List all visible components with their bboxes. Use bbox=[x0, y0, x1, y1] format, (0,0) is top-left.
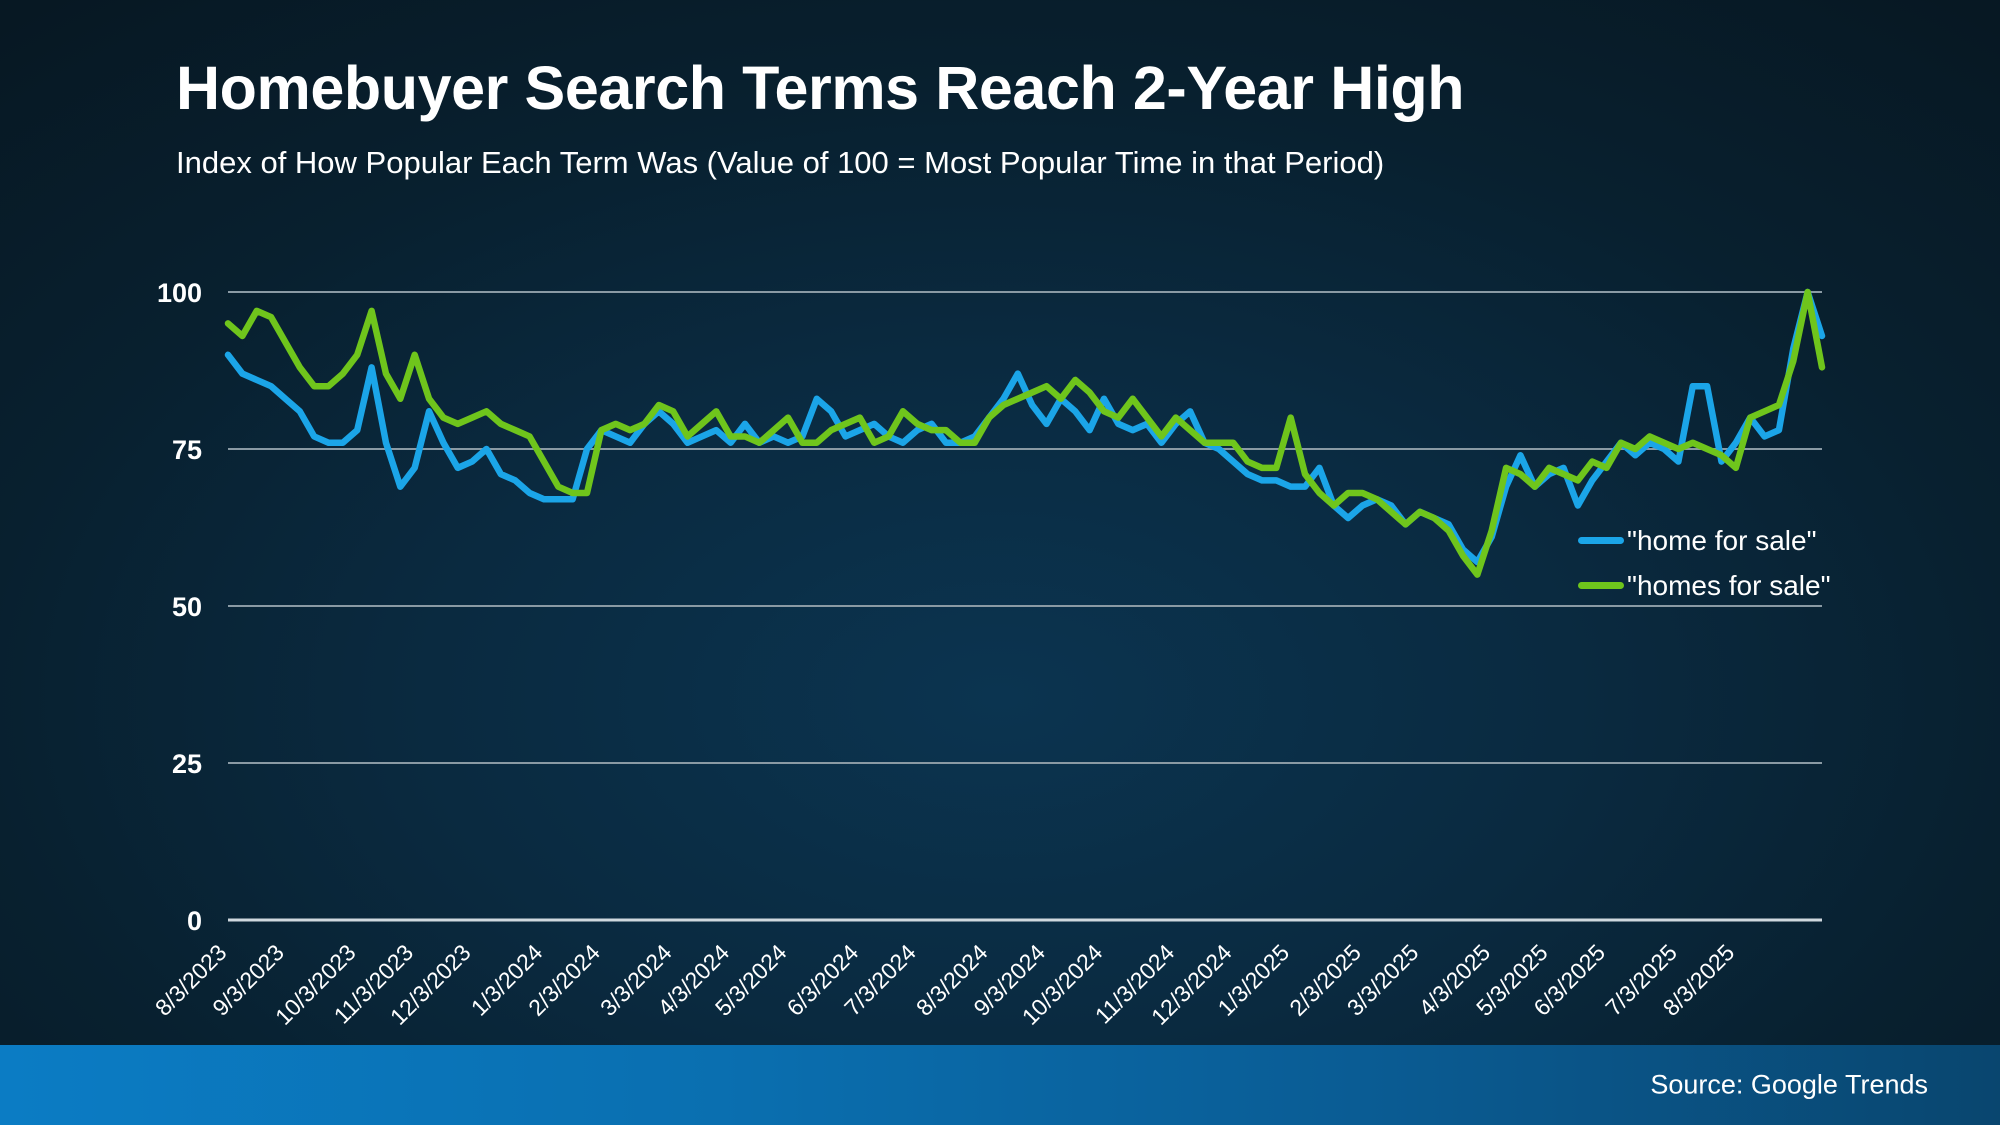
source-attribution: Source: Google Trends bbox=[1650, 1070, 1928, 1101]
footer-bar: Source: Google Trends bbox=[0, 1045, 2000, 1125]
y-axis-tick-label: 0 bbox=[187, 906, 202, 936]
legend-swatch-blue-icon bbox=[1578, 537, 1624, 544]
x-axis-tick-labels: 8/3/20239/3/202310/3/202311/3/202312/3/2… bbox=[150, 939, 1740, 1030]
legend-item-home-for-sale[interactable]: "home for sale" bbox=[1578, 518, 1908, 563]
y-axis-tick-label: 50 bbox=[172, 592, 202, 622]
legend-item-homes-for-sale[interactable]: "homes for sale" bbox=[1578, 563, 1908, 608]
y-axis-tick-label: 100 bbox=[157, 278, 202, 308]
y-axis-tick-labels: 0255075100 bbox=[157, 278, 202, 936]
chart-legend: "home for sale" "homes for sale" bbox=[1578, 518, 1908, 608]
y-axis-tick-label: 25 bbox=[172, 749, 202, 779]
y-axis-tick-label: 75 bbox=[172, 435, 202, 465]
legend-label-homes-for-sale: "homes for sale" bbox=[1627, 570, 1831, 602]
legend-swatch-green-icon bbox=[1578, 582, 1624, 589]
legend-label-home-for-sale: "home for sale" bbox=[1627, 525, 1817, 557]
slide-canvas: Homebuyer Search Terms Reach 2-Year High… bbox=[0, 0, 2000, 1125]
